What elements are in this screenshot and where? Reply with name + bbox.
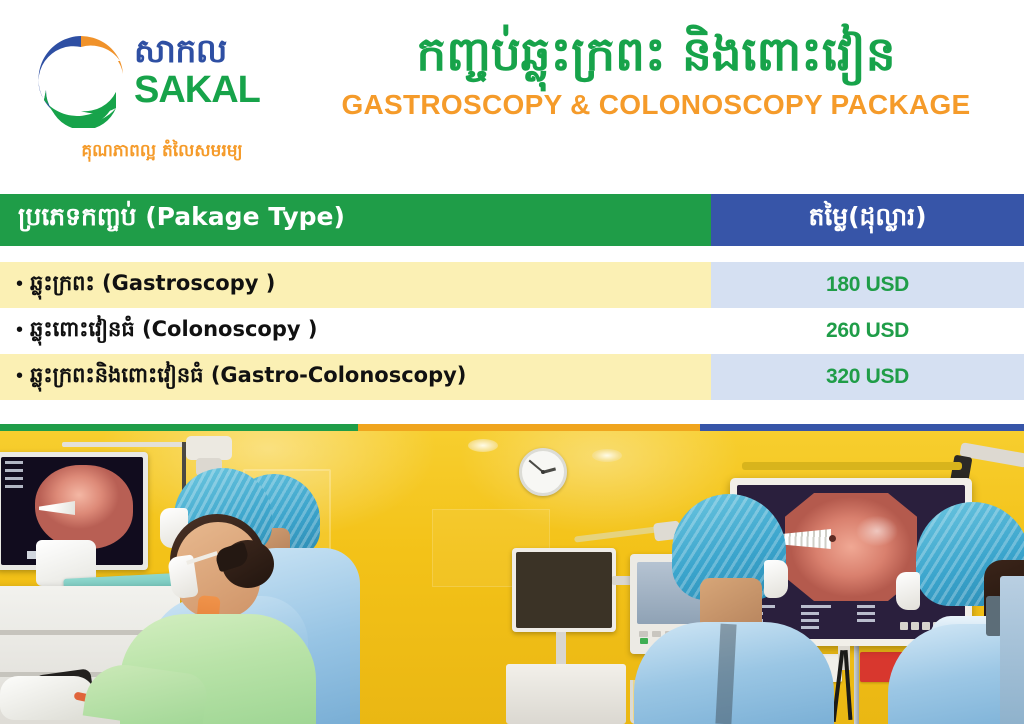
divider-segment-orange <box>358 424 700 431</box>
table-cell-type: • ឆ្លុះក្រពះ (Gastroscopy ) <box>0 262 711 308</box>
monitor-stand <box>556 632 566 666</box>
monitor-button <box>911 622 919 630</box>
table-header-gap <box>0 246 1024 262</box>
osd-line <box>857 605 875 608</box>
equipment-cart-right <box>1000 576 1024 724</box>
osd-line <box>857 612 875 615</box>
monitor-button <box>922 622 930 630</box>
package-price: 320 USD <box>826 365 909 389</box>
osd-column <box>857 605 875 633</box>
equipment-cart-center <box>506 664 626 724</box>
table-row[interactable]: • ឆ្លុះក្រពះ (Gastroscopy ) 180 USD <box>0 262 1024 308</box>
brand-tagline: គុណភាពល្អ តំលៃសមរម្យ <box>28 140 296 165</box>
package-name: ឆ្លុះពោះវៀនធំ (Colonoscopy ) <box>30 316 317 347</box>
bullet-icon: • <box>16 320 23 340</box>
sakal-circle-swoosh-logo-icon <box>32 30 130 128</box>
monitor-button <box>900 622 908 630</box>
table-row[interactable]: • ឆ្លុះក្រពះនិងពោះវៀនធំ (Gastro-Colonosc… <box>0 354 1024 400</box>
osd-line <box>857 619 875 622</box>
monitor-screen-off <box>516 552 612 628</box>
osd-line <box>5 469 23 472</box>
table-row[interactable]: • ឆ្លុះពោះវៀនធំ (Colonoscopy ) 260 USD <box>0 308 1024 354</box>
osd-line <box>5 477 23 480</box>
brand-wordmarks: សាកល SAKAL <box>134 34 294 130</box>
table-cell-price: 260 USD <box>711 308 1024 354</box>
package-price: 260 USD <box>826 319 909 343</box>
osd-line <box>5 485 23 488</box>
staff-face-mask <box>764 560 788 598</box>
bullet-icon: • <box>16 366 23 386</box>
monitor-wall-rail <box>742 462 962 470</box>
equipment-boom-arm <box>62 442 188 447</box>
table-header-label-type: ប្រភេទកញ្ចប់ (Pakage Type) <box>18 202 345 238</box>
color-divider-bar <box>0 424 1024 431</box>
clock-center-pin <box>541 470 545 474</box>
endoscopy-lesion-marker <box>829 535 836 542</box>
ceiling-light-icon <box>468 439 498 452</box>
poster-root: សាកល SAKAL គុណភាពល្អ តំលៃសមរម្យ កញ្ចប់ឆ្… <box>0 0 1024 724</box>
osd-line <box>5 461 23 464</box>
price-table: ប្រភេទកញ្ចប់ (Pakage Type) តម្លៃ(ដុល្លារ… <box>0 194 1024 394</box>
secondary-monitor <box>512 548 616 632</box>
power-led-icon <box>640 638 648 644</box>
osd-line <box>801 626 819 629</box>
package-price: 180 USD <box>826 273 909 297</box>
table-cell-price: 320 USD <box>711 354 1024 400</box>
staff-face-mask <box>896 572 920 610</box>
table-cell-type: • ឆ្លុះក្រពះនិងពោះវៀនធំ (Gastro-Colonosc… <box>0 354 711 400</box>
osd-line <box>801 619 819 622</box>
monitor-osd-overlay <box>5 461 23 493</box>
ceiling-light-icon <box>592 449 622 462</box>
table-header-label-price: តម្លៃ(ដុល្លារ) <box>808 202 926 238</box>
table-cell-price: 180 USD <box>711 262 1024 308</box>
divider-segment-green <box>0 424 358 431</box>
table-header-cell-type: ប្រភេទកញ្ចប់ (Pakage Type) <box>0 194 711 246</box>
bullet-icon: • <box>16 274 23 294</box>
ceiling-mount-head <box>186 436 232 460</box>
package-name: ឆ្លុះក្រពះ (Gastroscopy ) <box>30 270 275 301</box>
monitor-button <box>639 631 648 637</box>
package-name: ឆ្លុះក្រពះនិងពោះវៀនធំ (Gastro-Colonoscop… <box>30 362 466 393</box>
table-header-cell-price: តម្លៃ(ដុល្លារ) <box>711 194 1024 246</box>
divider-segment-blue <box>700 424 1024 431</box>
osd-line <box>801 612 819 615</box>
poster-header: សាកល SAKAL គុណភាពល្អ តំលៃសមរម្យ កញ្ចប់ឆ្… <box>0 0 1024 192</box>
page-title-english: GASTROSCOPY & COLONOSCOPY PACKAGE <box>300 89 1012 121</box>
brand-logo-block: សាកល SAKAL គុណភាពល្អ តំលៃសមរម្យ <box>22 22 292 172</box>
brand-name-khmer: សាកល <box>134 34 294 69</box>
osd-column <box>801 605 831 633</box>
table-cell-type: • ឆ្លុះពោះវៀនធំ (Colonoscopy ) <box>0 308 711 354</box>
page-title-khmer: កញ្ចប់ឆ្លុះក្រពះ និងពោះវៀន <box>300 26 1012 85</box>
table-header-row: ប្រភេទកញ្ចប់ (Pakage Type) តម្លៃ(ដុល្លារ… <box>0 194 1024 246</box>
osd-line <box>801 605 831 608</box>
wall-clock-icon <box>519 448 567 496</box>
brand-name-latin: SAKAL <box>134 71 294 109</box>
page-title-block: កញ្ចប់ឆ្លុះក្រពះ និងពោះវៀន GASTROSCOPY &… <box>300 26 1012 166</box>
